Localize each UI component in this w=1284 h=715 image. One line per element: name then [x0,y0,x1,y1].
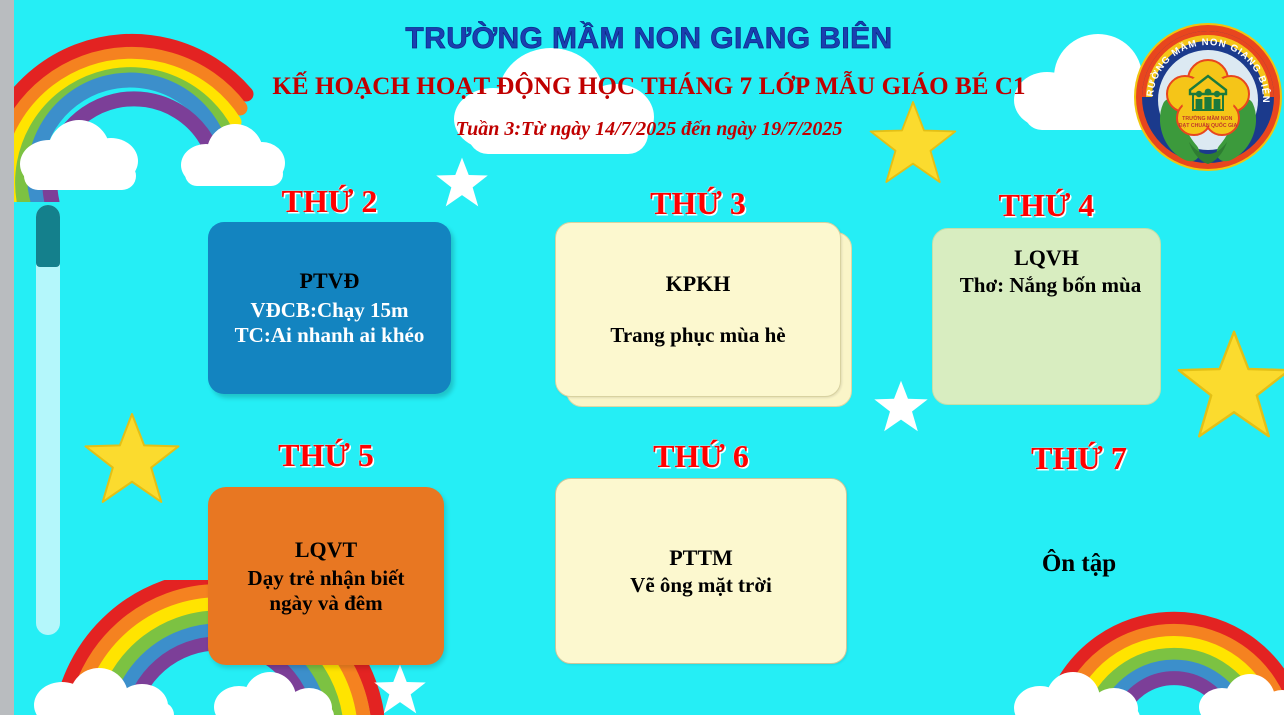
activity-line-mon-2: TC:Ai nhanh ai khéo [235,323,425,348]
activity-line-sat-1: Ôn tập [954,550,1204,578]
activity-head-wed: LQVH [1014,245,1079,271]
activity-line-thu-1: Dạy trẻ nhận biết ngày và đêm [239,566,414,616]
school-logo: TRƯỜNG MẦM NON ĐẠT CHUẨN QUỐC GIA TRƯỜNG… [1133,22,1283,172]
day-label-tue: THỨ 3 [555,185,841,222]
activity-line-mon-1: VĐCB:Chạy 15m [250,298,408,323]
activity-line-fri-1: Vẽ ông mặt trời [630,573,772,598]
activity-card-fri[interactable]: PTTM Vẽ ông mặt trời [555,478,847,664]
star-yellow-top-icon [867,98,959,186]
star-white-middle-icon [872,378,930,434]
rainbow-bottom-right-icon [1044,555,1284,715]
activity-card-mon[interactable]: PTVĐ VĐCB:Chạy 15m TC:Ai nhanh ai khéo [208,222,451,394]
cloud-bottom-right-2-icon [1199,672,1284,715]
logo-inner-line-2: ĐẠT CHUẨN QUỐC GIA [1179,122,1238,129]
star-white-bottom-icon [372,662,428,715]
star-yellow-left-icon [76,410,188,506]
page-title: KẾ HOẠCH HOẠT ĐỘNG HỌC THÁNG 7 LỚP MẪU G… [14,73,1284,101]
vertical-scrollbar-track[interactable] [36,205,60,635]
slide-canvas: TRƯỜNG MẦM NON GIANG BIÊN KẾ HOẠCH HOẠT … [14,0,1284,715]
cloud-bottom-right-icon [1014,668,1149,715]
day-label-sat: THỨ 7 [954,440,1204,477]
slide-frame: TRƯỜNG MẦM NON GIANG BIÊN KẾ HOẠCH HOẠT … [0,0,1284,715]
day-label-thu: THỨ 5 [208,437,444,474]
activity-card-thu[interactable]: LQVT Dạy trẻ nhận biết ngày và đêm [208,487,444,665]
school-name: TRƯỜNG MẦM NON GIANG BIÊN [14,22,1284,56]
activity-head-fri: PTTM [669,545,733,571]
cloud-bottom-left-2-icon [214,668,344,715]
day-label-mon: THỨ 2 [208,183,451,220]
activity-card-tue[interactable]: KPKH Trang phục mùa hè [555,222,841,397]
day-label-fri: THỨ 6 [555,438,847,475]
activity-card-wed[interactable]: LQVH Thơ: Nắng bốn mùa [932,228,1161,405]
logo-inner-line-1: TRƯỜNG MẦM NON [1182,114,1232,122]
activity-line-tue-1: Trang phục mùa hè [610,323,785,348]
week-range-label: Tuần 3:Từ ngày 14/7/2025 đến ngày 19/7/2… [14,118,1284,141]
activity-head-thu: LQVT [295,537,357,563]
star-yellow-right-icon [1174,325,1284,443]
day-label-wed: THỨ 4 [932,187,1161,224]
vertical-scrollbar-thumb[interactable] [36,205,60,267]
cloud-bottom-left-icon [34,662,184,715]
activity-head-mon: PTVĐ [300,268,360,294]
svg-text:TRƯỜNG MẦM NON ĐẠT CHU: TRƯỜNG MẦM NON ĐẠT CHUẨN QUỐC GIA [1179,114,1238,129]
activity-head-tue: KPKH [666,271,731,297]
activity-line-wed-1: Thơ: Nắng bốn mùa [960,273,1141,298]
